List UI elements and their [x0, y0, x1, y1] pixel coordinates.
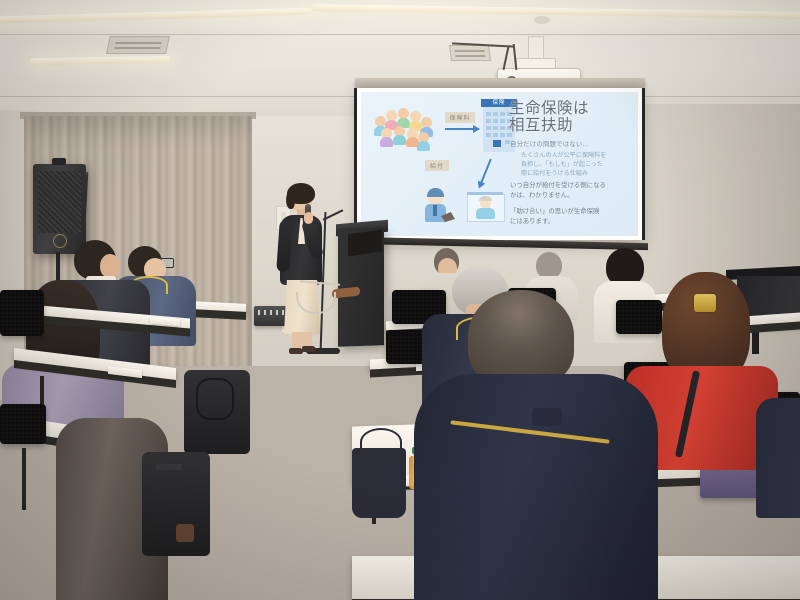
- backpack-strap: [196, 378, 234, 420]
- pa-speaker: [33, 164, 86, 254]
- backpack-logo: [156, 464, 182, 470]
- speaker-grille: [38, 171, 81, 233]
- table-leg: [22, 448, 26, 510]
- ceiling-air-vent: [449, 45, 491, 61]
- attendee-torso: [756, 398, 800, 518]
- projection-screen-housing: [355, 78, 645, 88]
- slide-body-paragraph-2: 「助け合い」の思いが生命保険にはあります。: [510, 207, 638, 226]
- presenter: [278, 186, 328, 362]
- attendee-face: [100, 254, 120, 278]
- ceiling-seam: [0, 34, 800, 35]
- presentation-slide: 保険料 保険 給付: [361, 92, 638, 236]
- gold-hair-clip: [694, 294, 716, 312]
- speaker-top-bracket: [52, 158, 66, 165]
- attendee-head: [536, 252, 562, 279]
- tote-bag-handle: [360, 428, 402, 456]
- slide-title: 生命保険は相互扶助: [509, 100, 638, 135]
- projection-screen: 保険料 保険 給付: [357, 88, 642, 240]
- presenter-shoe: [302, 346, 316, 352]
- speaker-brand-badge: [53, 234, 67, 248]
- hospital-bed-illustration: [465, 190, 505, 224]
- slide-arrow-label-benefit: 給付: [425, 160, 449, 171]
- tote-bag: [352, 448, 406, 518]
- presenter-hair-side: [286, 191, 295, 209]
- slide-arrow-label-premium: 保険料: [445, 112, 475, 123]
- arrow-down-icon: [480, 159, 492, 184]
- seminar-room-screenshot: 保険料 保険 給付: [0, 0, 800, 600]
- jacket-collar: [532, 408, 562, 426]
- screen-edge-right: [642, 88, 645, 240]
- chair-left-mid[interactable]: [0, 404, 46, 444]
- slide-subtitle: 自分だけの問題ではない…: [510, 139, 638, 148]
- chair-left-rear[interactable]: [0, 290, 44, 336]
- presenter-shoe: [289, 348, 303, 354]
- backpack-patch: [176, 524, 194, 542]
- sad-person-illustration: [419, 188, 457, 226]
- slide-body-paragraph-1: いつ自分が給付を受ける側になるかは、わかりません。: [510, 181, 638, 200]
- crowd-illustration: [373, 106, 437, 148]
- slide-highlight-text: たくさんの人が公平に保険料を 負担し、「もしも」が起こった 際に給付をうける仕組…: [521, 152, 638, 178]
- presenter-hand: [304, 212, 313, 224]
- ceiling-air-vent: [106, 36, 170, 54]
- screen-edge-left: [354, 88, 357, 240]
- arrow-right-icon: [445, 128, 479, 130]
- smoke-detector-icon: [534, 16, 550, 24]
- chair-right-rear[interactable]: [616, 300, 662, 334]
- attendee-hair: [468, 290, 574, 386]
